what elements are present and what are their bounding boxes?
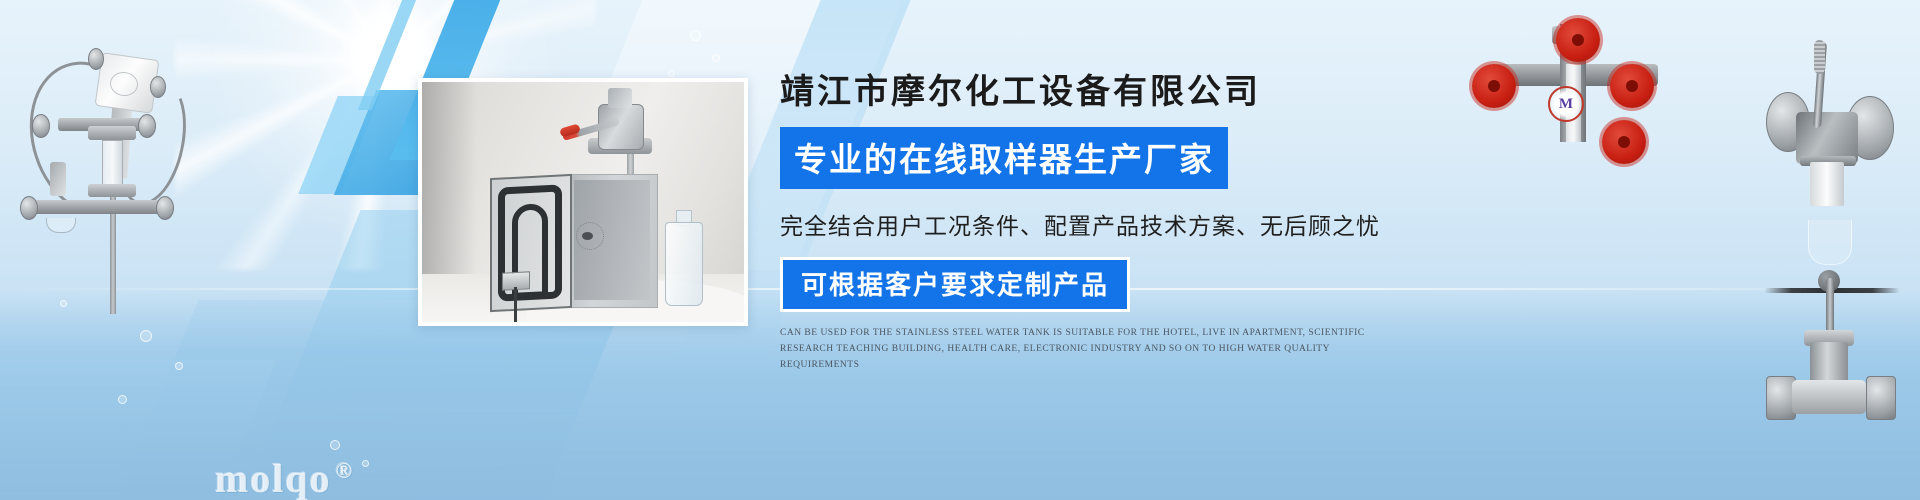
handwheel-left-icon: [1472, 64, 1516, 108]
handwheel-right-icon: [1610, 64, 1654, 108]
bubble-4: [140, 330, 152, 342]
bubble-6: [118, 395, 127, 404]
sample-cup: [46, 218, 76, 233]
subline-text: 完全结合用户工况条件、配置产品技术方案、无后顾之忧: [780, 207, 1420, 241]
product-brand-seal-icon: M: [1548, 86, 1584, 122]
flange-a: [32, 114, 50, 138]
handwheel-bottom-icon: [1602, 120, 1646, 164]
door-cable: [514, 287, 517, 326]
valve3-bonnet: [1810, 342, 1848, 384]
company-name: 靖江市摩尔化工设备有限公司: [780, 74, 1420, 111]
lower-manifold-bar: [34, 200, 160, 214]
product-photo-sampling-cabinet: [418, 78, 748, 326]
sight-glass: [102, 140, 123, 190]
valve3-body: [1792, 380, 1866, 414]
upper-clamp: [88, 126, 136, 140]
handwheel-top-icon: [1556, 18, 1600, 62]
product-image-globe-valve: [1760, 230, 1910, 390]
bubble-8: [362, 460, 369, 467]
headline-secondary: 可根据客户要求定制产品: [780, 257, 1130, 312]
flange-c: [20, 196, 38, 220]
cabinet-port-hole: [582, 232, 593, 240]
relief-valve: [50, 162, 66, 196]
photo-valve-top: [608, 88, 632, 108]
english-caption: CAN BE USED FOR THE STAINLESS STEEL WATE…: [780, 326, 1390, 373]
watermark-logo: molqo®: [215, 455, 354, 500]
bubble-5: [175, 362, 183, 370]
valve2-outlet-pipe: [1810, 162, 1844, 206]
watermark-text: molqo: [215, 456, 332, 500]
banner-copy-block: 靖江市摩尔化工设备有限公司 专业的在线取样器生产厂家 完全结合用户工况条件、配置…: [780, 74, 1420, 373]
promo-banner: M 靖江市摩尔化工设备有限公司 专业的在线取样器生产厂家 完全结合用户工况条件、…: [0, 0, 1920, 500]
sample-bottle: [665, 222, 703, 306]
product-image-cross-valve-manifold: M: [1460, 24, 1690, 144]
valve2-handle-grip: [1814, 40, 1825, 74]
seal-letter: M: [1548, 86, 1584, 122]
bubble-1: [690, 30, 701, 41]
flange-d: [156, 196, 174, 220]
product-image-lever-ball-valve: [1748, 30, 1908, 205]
flange-e: [88, 48, 104, 70]
bubble-3: [668, 70, 675, 77]
valve3-flange-right: [1866, 376, 1896, 420]
flange-b: [138, 114, 156, 138]
flange-f: [150, 76, 166, 98]
watermark-registered-icon: ®: [336, 458, 354, 483]
bubble-7: [330, 440, 340, 450]
lower-clamp: [88, 184, 136, 197]
bubble-2: [712, 54, 720, 62]
product-image-sampler-pole: [10, 22, 185, 312]
valve3-sample-glass: [1808, 220, 1852, 265]
headline-primary: 专业的在线取样器生产厂家: [780, 127, 1228, 189]
